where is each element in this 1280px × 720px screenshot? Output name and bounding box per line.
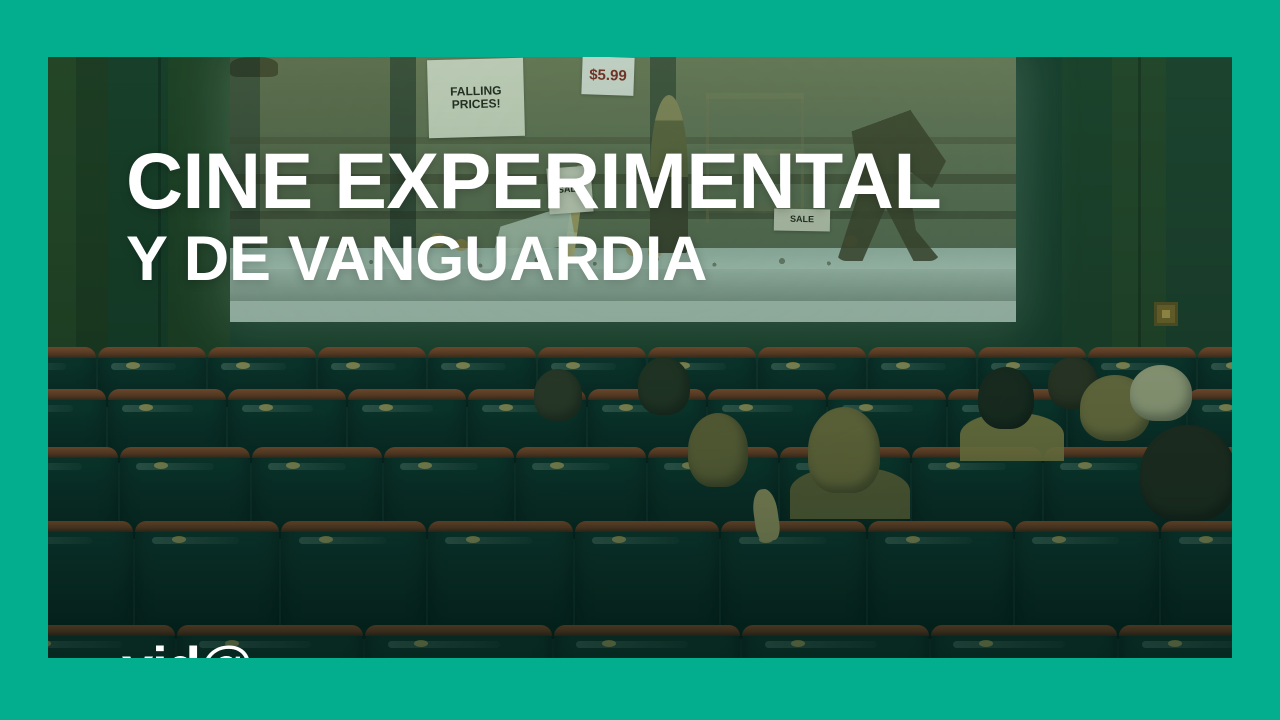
- exit-sign-icon: [1154, 302, 1178, 326]
- seat-stud-icon: [739, 404, 753, 411]
- cinema-seat: [868, 521, 1013, 639]
- seat-stud-icon: [379, 404, 393, 411]
- seat-stud-icon: [1052, 536, 1066, 543]
- seat-row: [48, 521, 1232, 639]
- audience-head: [978, 367, 1034, 429]
- seat-stud-icon: [418, 462, 432, 469]
- seat-stud-icon: [456, 362, 470, 369]
- cinema-seat: [281, 521, 426, 639]
- audience-head: [688, 413, 748, 487]
- cinema-seat: [575, 521, 720, 639]
- seat-stud-icon: [602, 640, 616, 647]
- hero-photo-frame: FALLING PRICES! $5.99 SALE SALE: [48, 57, 1232, 658]
- brand-logo-word: vid: [122, 639, 200, 658]
- seat-stud-icon: [566, 362, 580, 369]
- cinema-seat: [428, 521, 573, 639]
- audience-head: [1140, 425, 1232, 521]
- title-line-secondary: Y DE VANGUARDIA: [126, 228, 941, 291]
- seat-stud-icon: [1168, 640, 1182, 647]
- audience-head: [1130, 365, 1192, 421]
- seat-stud-icon: [126, 362, 140, 369]
- seat-stud-icon: [791, 640, 805, 647]
- seat-stud-icon: [499, 404, 513, 411]
- seat-stud-icon: [612, 536, 626, 543]
- seat-stud-icon: [286, 462, 300, 469]
- cinema-seat: [742, 625, 929, 658]
- cinema-seat: [365, 625, 552, 658]
- seat-stud-icon: [896, 362, 910, 369]
- brand-logo: vid @: [122, 639, 275, 658]
- seat-stud-icon: [859, 404, 873, 411]
- seat-stud-icon: [1078, 462, 1092, 469]
- auditorium-right-wall: [1016, 57, 1232, 357]
- seat-stud-icon: [319, 536, 333, 543]
- audience-head: [534, 369, 582, 421]
- cinema-seat: [1015, 521, 1160, 639]
- seat-stud-icon: [619, 404, 633, 411]
- cinema-seat: [554, 625, 741, 658]
- at-symbol-icon: @: [198, 639, 255, 658]
- title-line-primary: CINE EXPERIMENTAL: [126, 145, 941, 218]
- cinema-seat: [721, 521, 866, 639]
- seat-stud-icon: [346, 362, 360, 369]
- page-title: CINE EXPERIMENTAL Y DE VANGUARDIA: [126, 145, 941, 291]
- seat-stud-icon: [48, 640, 51, 647]
- seat-stud-icon: [466, 536, 480, 543]
- seat-stud-icon: [236, 362, 250, 369]
- cinema-seat: [48, 521, 133, 639]
- seat-stud-icon: [172, 536, 186, 543]
- film-sign-price-tag: $5.99: [581, 57, 634, 96]
- wall-seam: [1138, 57, 1141, 357]
- film-sign-falling-prices: FALLING PRICES!: [427, 58, 525, 138]
- seat-stud-icon: [906, 536, 920, 543]
- seat-stud-icon: [259, 404, 273, 411]
- seat-stud-icon: [1226, 362, 1232, 369]
- seat-stud-icon: [550, 462, 564, 469]
- seat-stud-icon: [1116, 362, 1130, 369]
- seat-stud-icon: [1199, 536, 1213, 543]
- seat-stud-icon: [1219, 404, 1232, 411]
- seat-stud-icon: [139, 404, 153, 411]
- slide-canvas: FALLING PRICES! $5.99 SALE SALE: [0, 0, 1280, 720]
- audience-head: [808, 407, 880, 493]
- cinema-seat: [135, 521, 280, 639]
- seat-stud-icon: [786, 362, 800, 369]
- cinema-seat: [1119, 625, 1232, 658]
- audience-head: [638, 357, 690, 415]
- cinema-seat: [931, 625, 1118, 658]
- cinema-seat: [1161, 521, 1232, 639]
- seat-stud-icon: [946, 462, 960, 469]
- seat-stud-icon: [154, 462, 168, 469]
- seat-stud-icon: [414, 640, 428, 647]
- seat-stud-icon: [979, 640, 993, 647]
